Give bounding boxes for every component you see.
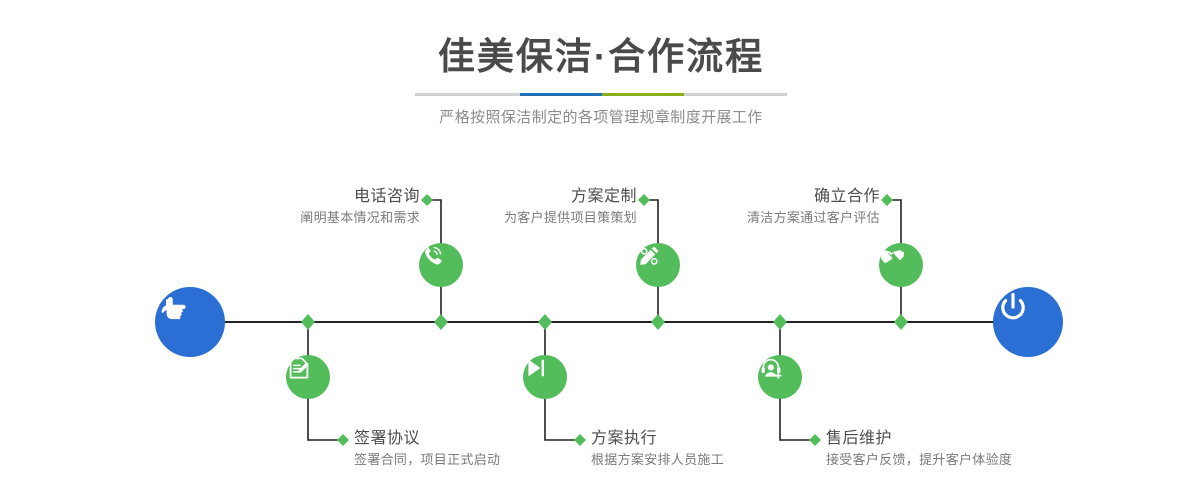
step-6-icon-node[interactable] <box>758 355 802 399</box>
sign-document-icon <box>286 355 312 381</box>
flow-connectors <box>0 0 1202 502</box>
step-3-label: 方案定制 为客户提供项目策策划 <box>504 186 637 228</box>
step-6-desc: 接受客户反馈，提升客户体验度 <box>826 450 1012 470</box>
step-3-icon-node[interactable] <box>636 243 680 287</box>
handshake-icon <box>879 243 906 270</box>
label-diamond-markers <box>337 194 893 446</box>
step-6-label: 售后维护 接受客户反馈，提升客户体验度 <box>826 428 1012 470</box>
cooperation-process-infographic: 佳美保洁·合作流程 严格按照保洁制定的各项管理规章制度开展工作 <box>0 0 1202 502</box>
power-icon <box>993 287 1033 327</box>
play-execute-icon <box>523 355 549 381</box>
step-4-desc: 根据方案安排人员施工 <box>591 450 724 470</box>
step-3-desc: 为客户提供项目策策划 <box>504 208 637 228</box>
step-5-desc: 清洁方案通过客户评估 <box>747 208 880 228</box>
step-2-icon-node[interactable] <box>286 355 330 399</box>
start-endpoint[interactable] <box>155 287 225 357</box>
step-5-icon-node[interactable] <box>879 243 923 287</box>
end-endpoint[interactable] <box>993 287 1063 357</box>
step-1-desc: 阐明基本情况和需求 <box>300 208 420 228</box>
step-2-label: 签署协议 签署合同，项目正式启动 <box>354 428 500 470</box>
step-1-icon-node[interactable] <box>419 243 463 287</box>
phone-call-icon <box>419 243 445 269</box>
step-4-title: 方案执行 <box>591 428 724 450</box>
step-4-icon-node[interactable] <box>523 355 567 399</box>
step-5-title: 确立合作 <box>747 186 880 208</box>
step-3-title: 方案定制 <box>504 186 637 208</box>
pointing-hand-icon <box>155 287 195 327</box>
step-4-label: 方案执行 根据方案安排人员施工 <box>591 428 724 470</box>
step-6-title: 售后维护 <box>826 428 1012 450</box>
customer-service-icon <box>758 355 784 381</box>
step-1-title: 电话咨询 <box>300 186 420 208</box>
step-2-desc: 签署合同，项目正式启动 <box>354 450 500 470</box>
process-flow: 电话咨询 阐明基本情况和需求 方案定制 为客户提供项目策策划 确立 <box>0 0 1202 502</box>
step-5-label: 确立合作 清洁方案通过客户评估 <box>747 186 880 228</box>
step-2-title: 签署协议 <box>354 428 500 450</box>
step-1-label: 电话咨询 阐明基本情况和需求 <box>300 186 420 228</box>
plan-pencil-icon <box>636 243 662 269</box>
